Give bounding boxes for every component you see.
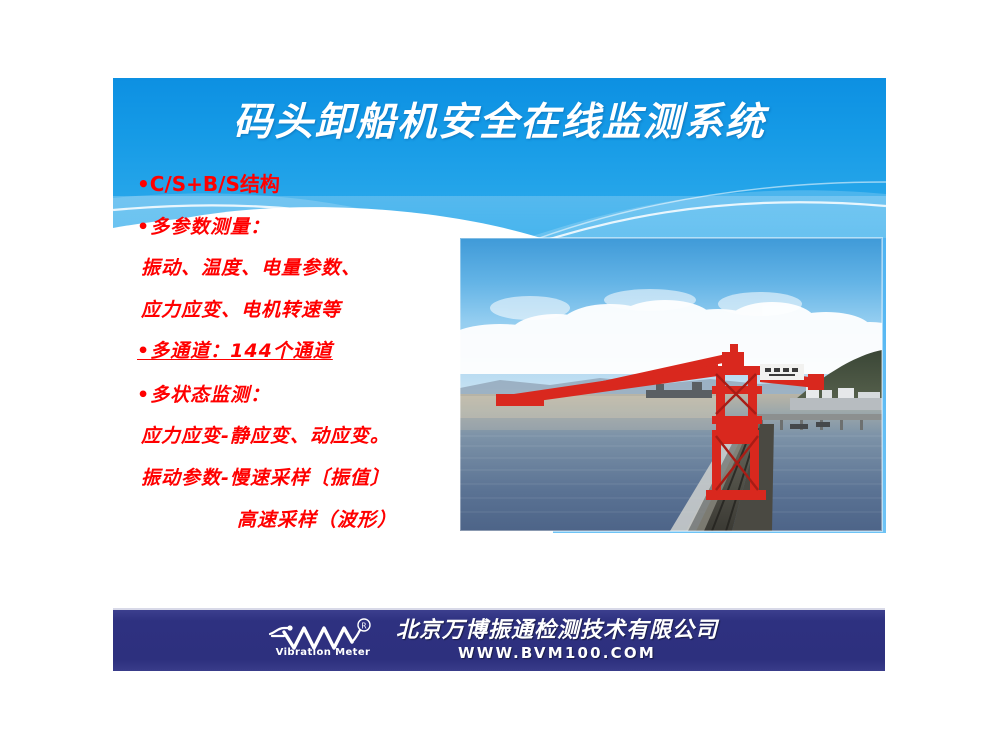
bullet-line-7: 应力应变-静应变、动应变。 — [141, 427, 390, 446]
footer-text-group: 北京万博振通检测技术有限公司 WWW.BVM100.COM — [396, 620, 718, 661]
vibration-meter-logo: R Vibration Meter — [264, 618, 382, 664]
bullet-line-3: 振动、温度、电量参数、 — [141, 259, 361, 278]
bullet-line-2: •多参数测量： — [137, 218, 270, 237]
bullet-line-8: 振动参数-慢速采样〔振值〕 — [141, 469, 390, 488]
svg-text:R: R — [361, 621, 366, 630]
photo-artwork — [460, 238, 882, 531]
footer-bar: R Vibration Meter 北京万博振通检测技术有限公司 WWW.BVM… — [113, 608, 885, 671]
bullet-line-4: 应力应变、电机转速等 — [141, 301, 341, 320]
slide-title: 码头卸船机安全在线监测系统 — [113, 102, 886, 145]
bullet-line-5: •多通道：144个通道 — [137, 342, 333, 361]
bullet-line-9: 高速采样（波形） — [237, 511, 397, 530]
slide-canvas: 码头卸船机安全在线监测系统 •C/S+B/S结构 •多参数测量： 振动、温度、电… — [0, 0, 1000, 750]
company-name: 北京万博振通检测技术有限公司 — [396, 620, 718, 642]
company-website[interactable]: WWW.BVM100.COM — [458, 646, 656, 661]
logo-caption: Vibration Meter — [268, 647, 378, 658]
footer-content: R Vibration Meter 北京万博振通检测技术有限公司 WWW.BVM… — [264, 618, 718, 664]
bullet-line-1: •C/S+B/S结构 — [137, 174, 280, 194]
presentation-slide: 码头卸船机安全在线监测系统 •C/S+B/S结构 •多参数测量： 振动、温度、电… — [113, 78, 886, 533]
bullet-line-6: •多状态监测： — [137, 386, 270, 405]
port-ship-unloader-photo — [460, 238, 882, 531]
